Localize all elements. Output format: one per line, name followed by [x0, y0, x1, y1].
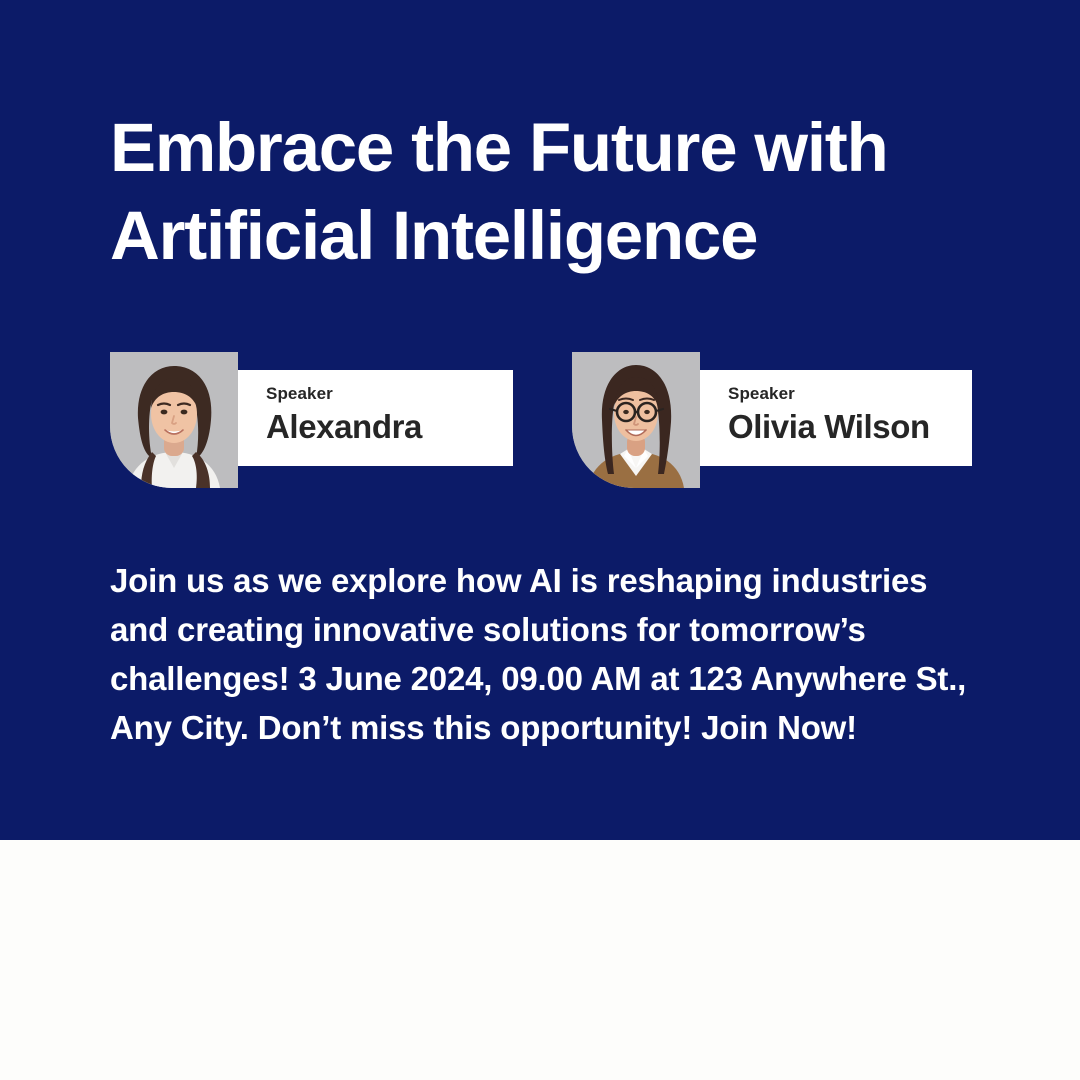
page-title: Embrace the Future with Artificial Intel…	[110, 104, 1010, 280]
event-description: Join us as we explore how AI is reshapin…	[110, 556, 990, 752]
speaker-name-2: Olivia Wilson	[728, 407, 972, 447]
speaker-info-1: Speaker Alexandra	[238, 370, 513, 466]
speaker-info-2: Speaker Olivia Wilson	[700, 370, 972, 466]
speaker-photo-1	[110, 352, 238, 488]
hero-panel: Embrace the Future with Artificial Intel…	[0, 0, 1080, 840]
footer-panel: Capcut Free Registration! Follow our soc…	[0, 840, 1080, 1080]
speaker-role-label-1: Speaker	[266, 383, 513, 405]
speaker-name-1: Alexandra	[266, 407, 513, 447]
event-poster: Embrace the Future with Artificial Intel…	[0, 0, 1080, 1080]
speaker-photo-2	[572, 352, 700, 488]
speaker-role-label-2: Speaker	[728, 383, 972, 405]
